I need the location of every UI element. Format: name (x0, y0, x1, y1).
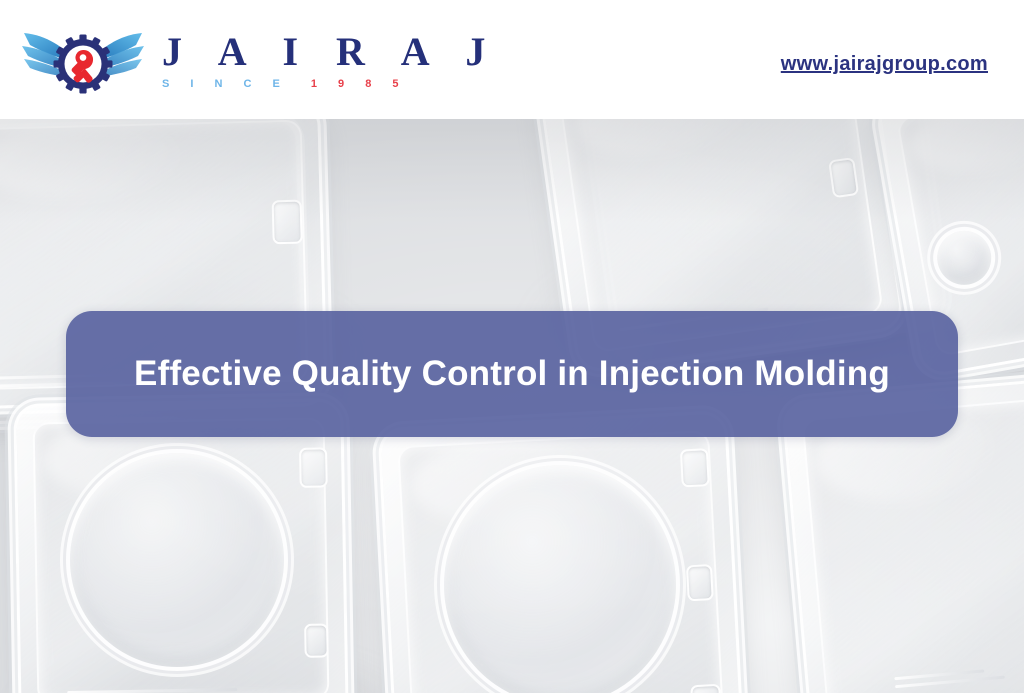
circular-recess (66, 449, 288, 671)
part-notch (304, 623, 329, 657)
page-title: Effective Quality Control in Injection M… (114, 353, 910, 395)
circular-recess (440, 461, 680, 693)
part-notch (686, 564, 714, 601)
website-url-link[interactable]: www.jairajgroup.com (781, 53, 988, 76)
part-notch (299, 447, 328, 487)
part-notch (272, 200, 303, 245)
jairaj-logo-icon[interactable] (18, 19, 148, 101)
part-notch (690, 684, 722, 693)
brand-wordmark: J A I R A J S I N C E1 9 8 5 (162, 30, 499, 90)
brand-lockup[interactable]: J A I R A J S I N C E1 9 8 5 (18, 14, 418, 106)
brand-name: J A I R A J (162, 32, 499, 72)
part-notch (828, 157, 859, 198)
site-header: J A I R A J S I N C E1 9 8 5 www.jairajg… (0, 0, 1024, 119)
tagline-year: 1 9 8 5 (311, 78, 408, 90)
tagline-since: S I N C E (162, 78, 289, 90)
brand-tagline: S I N C E1 9 8 5 (162, 79, 499, 90)
gear-icon (54, 35, 113, 94)
hero-title-banner: Effective Quality Control in Injection M… (66, 311, 958, 437)
page-root: Effective Quality Control in Injection M… (0, 0, 1024, 693)
part-notch (680, 448, 710, 487)
part-inner-cavity (802, 394, 1024, 693)
